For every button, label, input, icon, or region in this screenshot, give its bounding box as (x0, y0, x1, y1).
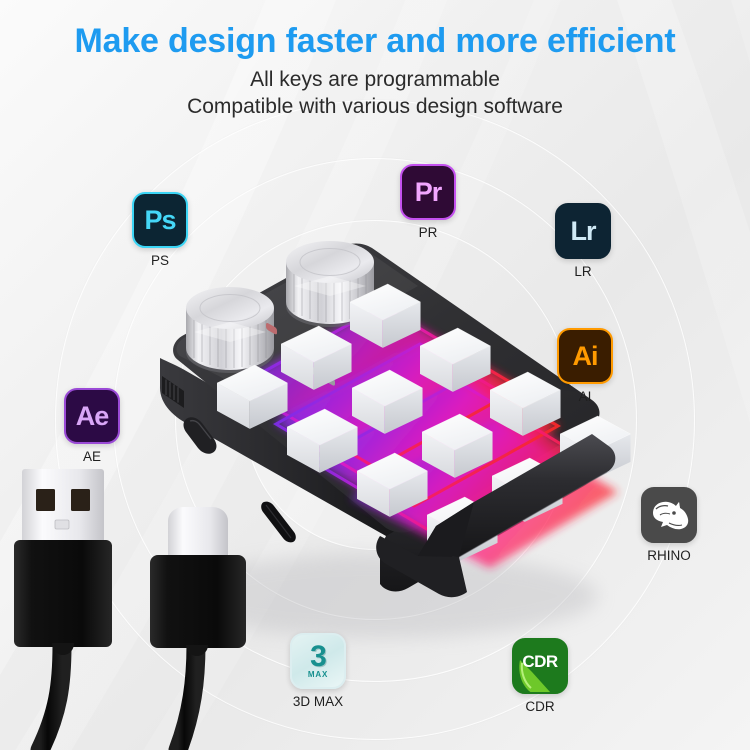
lightroom-tile: Lr (555, 203, 611, 259)
usb-c-housing (150, 555, 246, 648)
usb-c-cable (150, 507, 246, 750)
3dmax-glyph: 3 (310, 643, 326, 672)
coreldraw-glyph: CDR (522, 653, 557, 670)
app-icon-illustrator[interactable]: Ai AI (553, 328, 617, 404)
app-icon-coreldraw[interactable]: CDR CDR (508, 638, 572, 714)
app-icon-rhino[interactable]: RHINO (637, 487, 701, 563)
photoshop-caption: PS (128, 253, 192, 268)
product-banner: Make design faster and more efficient Al… (0, 0, 750, 750)
page-title: Make design faster and more efficient (0, 22, 750, 61)
lightroom-caption: LR (551, 264, 615, 279)
rhino-caption: RHINO (637, 548, 701, 563)
coreldraw-tile: CDR (512, 638, 568, 694)
premiere-glyph: Pr (415, 179, 442, 206)
after-effects-glyph: Ae (76, 403, 109, 430)
photoshop-tile: Ps (132, 192, 188, 248)
usb-a-housing (14, 540, 112, 647)
3dmax-caption: 3D MAX (286, 694, 350, 709)
photoshop-glyph: Ps (144, 207, 175, 234)
illustrator-tile: Ai (557, 328, 613, 384)
premiere-tile: Pr (400, 164, 456, 220)
illustrator-glyph: Ai (573, 343, 598, 370)
usb-a-cable (14, 469, 112, 750)
lightroom-glyph: Lr (571, 218, 596, 245)
after-effects-tile: Ae (64, 388, 120, 444)
3dmax-sub-glyph: MAX (308, 671, 328, 679)
app-icon-photoshop[interactable]: Ps PS (128, 192, 192, 268)
app-icon-premiere[interactable]: Pr PR (396, 164, 460, 240)
usb-cables (0, 455, 280, 750)
knob-left[interactable] (186, 287, 274, 373)
illustrator-caption: AI (553, 389, 617, 404)
rhino-head-icon (647, 496, 691, 534)
rhino-tile (641, 487, 697, 543)
after-effects-caption: AE (60, 449, 124, 464)
usb-a-metal-tip (22, 469, 104, 543)
app-icon-3dmax[interactable]: 3 MAX 3D MAX (286, 633, 350, 709)
app-icon-lightroom[interactable]: Lr LR (551, 203, 615, 279)
3dmax-tile: 3 MAX (290, 633, 346, 689)
premiere-caption: PR (396, 225, 460, 240)
app-icon-after-effects[interactable]: Ae AE (60, 388, 124, 464)
subtitle-line-1: All keys are programmable (0, 68, 750, 92)
subtitle-line-2: Compatible with various design software (0, 95, 750, 119)
usb-c-metal-tip (168, 507, 228, 559)
coreldraw-caption: CDR (508, 699, 572, 714)
